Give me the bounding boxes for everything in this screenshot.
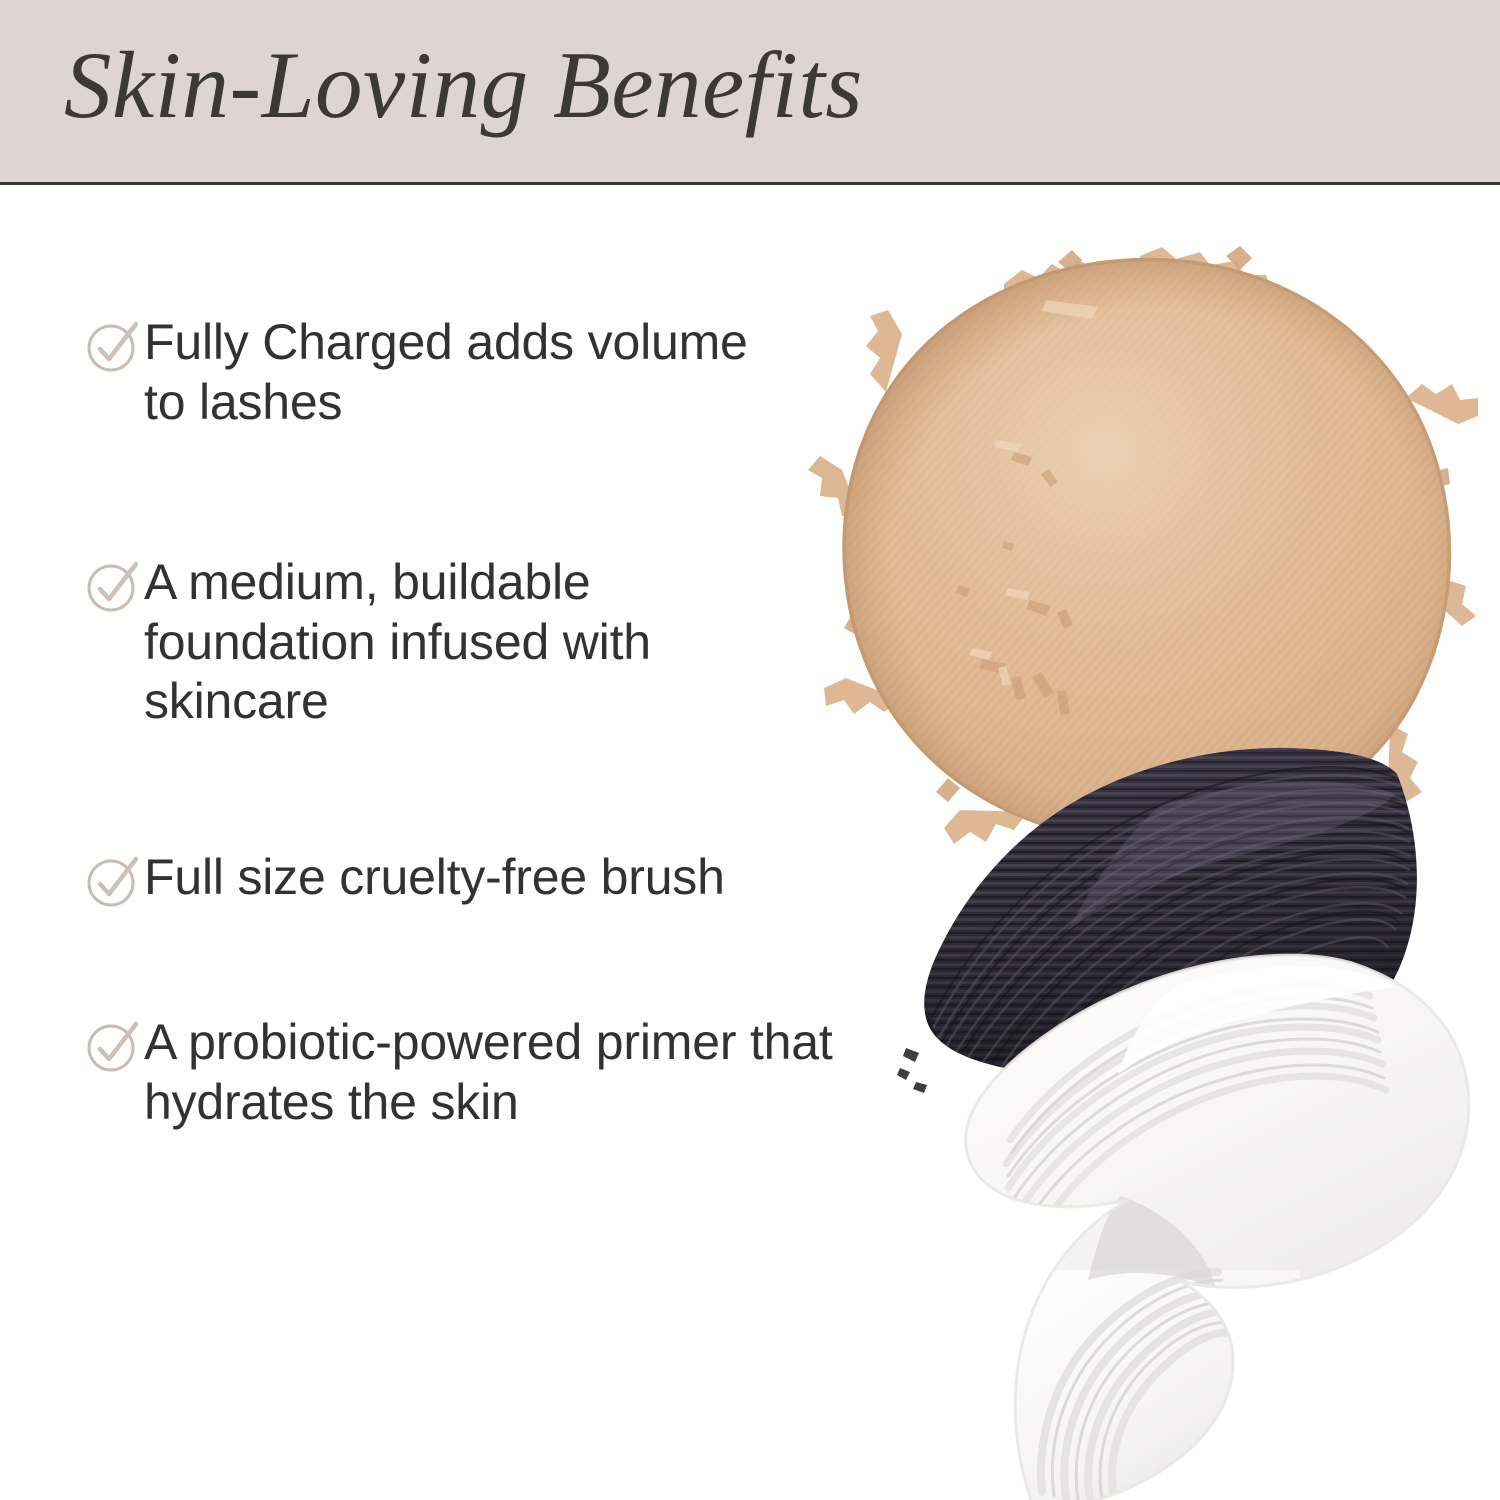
check-circle-icon <box>86 318 144 374</box>
page-title: Skin-Loving Benefits <box>64 38 863 133</box>
primer-cream-swatch <box>940 940 1500 1500</box>
check-circle-icon <box>86 558 144 614</box>
benefit-item: A medium, buildable foundation infused w… <box>86 553 806 732</box>
product-benefits-graphic: Skin-Loving Benefits Fully Charged adds … <box>0 0 1500 1500</box>
mascara-stroke-swatch <box>897 730 1460 1110</box>
benefit-item: Fully Charged adds volume to lashes <box>86 313 786 432</box>
header-band: Skin-Loving Benefits <box>0 0 1500 185</box>
benefits-list: Fully Charged adds volume to lashes A me… <box>0 185 960 1500</box>
benefit-text: Fully Charged adds volume to lashes <box>144 313 786 432</box>
benefit-text: A probiotic-powered primer that hydrates… <box>144 1013 966 1132</box>
check-circle-icon <box>86 1018 144 1074</box>
benefit-item: A probiotic-powered primer that hydrates… <box>86 1013 966 1132</box>
benefit-text: A medium, buildable foundation infused w… <box>144 553 806 732</box>
benefit-text: Full size cruelty-free brush <box>144 848 946 908</box>
benefit-item: Full size cruelty-free brush <box>86 848 946 909</box>
check-circle-icon <box>86 853 144 909</box>
